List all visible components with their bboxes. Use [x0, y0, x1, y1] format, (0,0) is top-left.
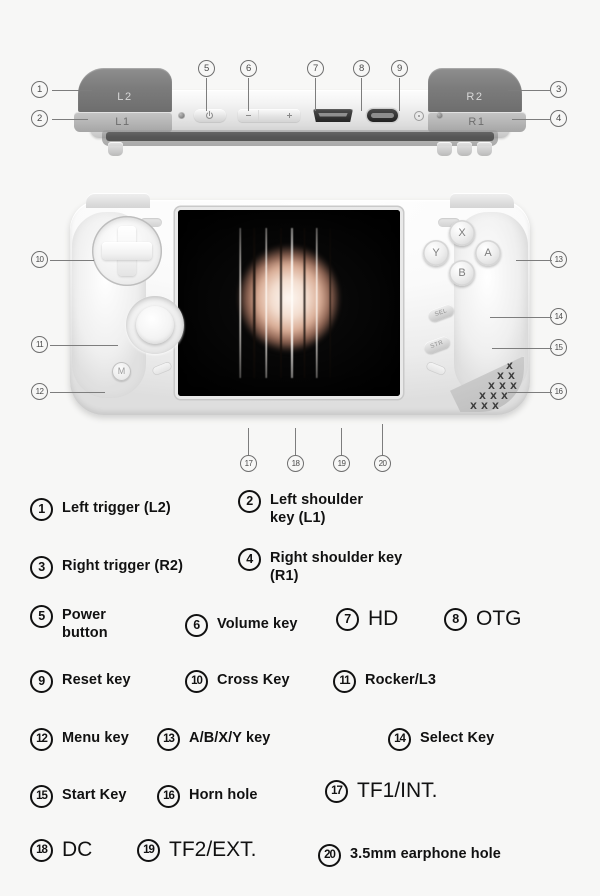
speaker-hole-mark: X: [499, 383, 506, 392]
legend-label-15: Start Key: [62, 785, 127, 804]
legend-item-1: 1Left trigger (L2): [30, 498, 171, 521]
legend-number-14: 14: [388, 728, 411, 751]
callout-number-11: 11: [31, 336, 48, 353]
top-edge-lip-inner: [106, 132, 494, 141]
grip-foot-right-3: [437, 142, 452, 156]
callout-leader-18: [295, 428, 296, 455]
legend-item-9: 9Reset key: [30, 670, 131, 693]
callout-number-16: 16: [550, 383, 567, 400]
legend-number-1: 1: [30, 498, 53, 521]
device-top-edge-view: L2 R2 L1 R1: [62, 68, 538, 158]
legend-number-11: 11: [333, 670, 356, 693]
speaker-hole-mark: X: [488, 383, 495, 392]
reset-pinhole[interactable]: [414, 111, 424, 121]
callout-leader-2: [52, 119, 88, 120]
legend-label-20: 3.5mm earphone hole: [350, 844, 501, 863]
legend-number-16: 16: [157, 785, 180, 808]
legend-item-12: 12Menu key: [30, 728, 129, 751]
callout-number-14: 14: [550, 308, 567, 325]
legend-number-12: 12: [30, 728, 53, 751]
legend-label-6: Volume key: [217, 614, 298, 633]
callout-number-4: 4: [550, 110, 567, 127]
callout-number-18: 18: [287, 455, 304, 472]
callout-number-13: 13: [550, 251, 567, 268]
face-button-x[interactable]: X: [449, 220, 475, 246]
legend-number-19: 19: [137, 839, 160, 862]
legend-number-17: 17: [325, 780, 348, 803]
callout-number-2: 2: [31, 110, 48, 127]
callout-leader-5: [206, 78, 207, 111]
legend-label-4: Right shoulder key (R1): [270, 548, 402, 585]
legend-label-3: Right trigger (R2): [62, 556, 183, 575]
legend-item-15: 15Start Key: [30, 785, 127, 808]
legend-label-2: Left shoulder key (L1): [270, 490, 363, 527]
legend-item-18: 18DC: [30, 839, 92, 862]
legend-label-13: A/B/X/Y key: [189, 728, 270, 747]
speaker-hole-mark: X: [492, 403, 499, 412]
legend-number-2: 2: [238, 490, 261, 513]
face-button-b[interactable]: B: [449, 260, 475, 286]
speaker-hole-mark: X: [510, 383, 517, 392]
legend-item-17: 17TF1/INT.: [325, 780, 438, 803]
legend-item-7: 7HD: [336, 608, 398, 631]
left-shoulder-l1[interactable]: L1: [74, 112, 172, 132]
callout-leader-16: [508, 392, 552, 393]
cross-key[interactable]: [102, 226, 152, 276]
otg-port: [367, 109, 398, 122]
callout-number-15: 15: [550, 339, 567, 356]
screen-vignette: [178, 210, 400, 396]
legend-item-19: 19TF2/EXT.: [137, 839, 257, 862]
analog-stick[interactable]: [136, 306, 174, 344]
hd-port: [313, 109, 353, 122]
left-screw-icon: [178, 112, 185, 119]
legend-label-16: Horn hole: [189, 785, 258, 804]
grip-foot-left: [108, 142, 123, 156]
callout-number-6: 6: [240, 60, 257, 77]
callout-leader-8: [361, 78, 362, 111]
legend-number-5: 5: [30, 605, 53, 628]
legend-label-17: TF1/INT.: [357, 780, 438, 802]
volume-minus-icon: [246, 115, 251, 116]
legend-number-7: 7: [336, 608, 359, 631]
callout-number-1: 1: [31, 81, 48, 98]
grip-foot-right-2: [457, 142, 472, 156]
device-front-view: M X Y A B SEL STR XXXXXXXXXXXX: [62, 196, 538, 428]
callout-number-12: 12: [31, 383, 48, 400]
legend-item-20: 203.5mm earphone hole: [318, 844, 501, 867]
speaker-hole-mark: X: [506, 363, 513, 372]
legend-list: 1Left trigger (L2)2Left shoulder key (L1…: [0, 482, 600, 896]
callout-number-3: 3: [550, 81, 567, 98]
callout-number-5: 5: [198, 60, 215, 77]
legend-number-10: 10: [185, 670, 208, 693]
callout-leader-14: [490, 317, 552, 318]
legend-item-16: 16Horn hole: [157, 785, 258, 808]
speaker-hole-mark: X: [470, 403, 477, 412]
legend-number-18: 18: [30, 839, 53, 862]
callout-leader-17: [248, 428, 249, 455]
callout-leader-7: [315, 78, 316, 111]
left-trigger-l2[interactable]: L2: [78, 68, 172, 112]
legend-item-11: 11Rocker/L3: [333, 670, 436, 693]
callout-number-7: 7: [307, 60, 324, 77]
legend-number-3: 3: [30, 556, 53, 579]
legend-label-8: OTG: [476, 608, 522, 630]
grip-foot-right: [477, 142, 492, 156]
legend-label-5: Power button: [62, 605, 108, 642]
legend-label-14: Select Key: [420, 728, 494, 747]
legend-item-3: 3Right trigger (R2): [30, 556, 183, 579]
callout-number-9: 9: [391, 60, 408, 77]
callout-leader-3: [508, 90, 550, 91]
callout-leader-1: [52, 90, 92, 91]
legend-item-13: 13A/B/X/Y key: [157, 728, 270, 751]
legend-item-2: 2Left shoulder key (L1): [238, 490, 363, 527]
legend-number-20: 20: [318, 844, 341, 867]
speaker-hole-mark: X: [508, 373, 515, 382]
callout-number-19: 19: [333, 455, 350, 472]
left-shoulder-nub: [86, 193, 150, 208]
speaker-hole-mark: X: [481, 403, 488, 412]
right-shoulder-nub: [450, 193, 514, 208]
legend-number-4: 4: [238, 548, 261, 571]
legend-number-6: 6: [185, 614, 208, 637]
callout-leader-12: [50, 392, 105, 393]
legend-label-19: TF2/EXT.: [169, 839, 257, 861]
legend-label-12: Menu key: [62, 728, 129, 747]
callout-leader-15: [492, 348, 552, 349]
legend-number-8: 8: [444, 608, 467, 631]
right-screw-icon: [436, 112, 443, 119]
callout-number-20: 20: [374, 455, 391, 472]
legend-item-5: 5Power button: [30, 605, 108, 642]
product-diagram-page: L2 R2 L1 R1: [0, 0, 600, 896]
speaker-hole-mark: X: [501, 393, 508, 402]
device-screen: [178, 210, 400, 396]
legend-item-14: 14Select Key: [388, 728, 494, 751]
legend-label-9: Reset key: [62, 670, 131, 689]
callout-leader-13: [516, 260, 552, 261]
legend-number-13: 13: [157, 728, 180, 751]
callout-number-8: 8: [353, 60, 370, 77]
legend-number-9: 9: [30, 670, 53, 693]
legend-label-1: Left trigger (L2): [62, 498, 171, 517]
callout-leader-6: [248, 78, 249, 111]
legend-label-7: HD: [368, 608, 398, 630]
callout-leader-20: [382, 424, 383, 455]
callout-leader-11: [50, 345, 118, 346]
callout-leader-9: [399, 78, 400, 111]
speaker-hole-mark: X: [490, 393, 497, 402]
menu-key[interactable]: M: [112, 362, 131, 381]
face-button-a[interactable]: A: [475, 240, 501, 266]
callout-leader-10: [50, 260, 94, 261]
callout-leader-4: [512, 119, 550, 120]
power-icon: [206, 112, 213, 119]
legend-item-6: 6Volume key: [185, 614, 298, 637]
callout-leader-19: [341, 428, 342, 455]
legend-label-18: DC: [62, 839, 92, 861]
volume-plus-icon: [287, 115, 292, 116]
speaker-hole-mark: X: [479, 393, 486, 402]
legend-label-10: Cross Key: [217, 670, 290, 689]
legend-item-4: 4Right shoulder key (R1): [238, 548, 402, 585]
callout-number-10: 10: [31, 251, 48, 268]
legend-item-8: 8OTG: [444, 608, 522, 631]
speaker-hole-mark: X: [497, 373, 504, 382]
legend-label-11: Rocker/L3: [365, 670, 436, 689]
face-button-y[interactable]: Y: [423, 240, 449, 266]
legend-item-10: 10Cross Key: [185, 670, 290, 693]
legend-number-15: 15: [30, 785, 53, 808]
volume-ridge-texture: [258, 110, 286, 121]
callout-number-17: 17: [240, 455, 257, 472]
